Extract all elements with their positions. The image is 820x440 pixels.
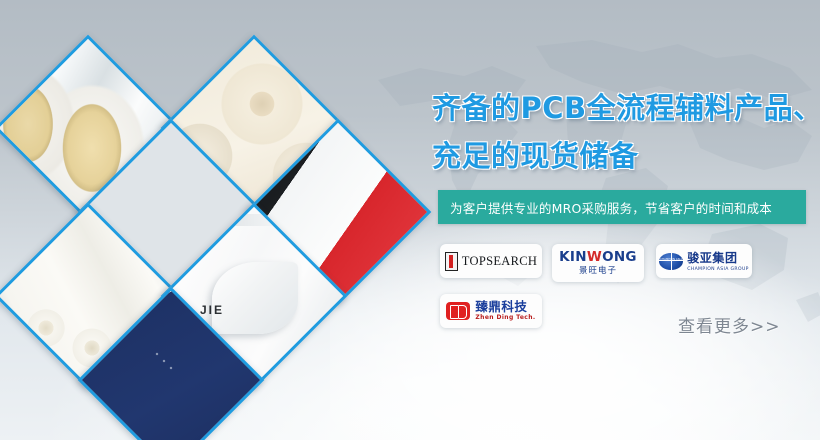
globe-icon <box>659 253 683 270</box>
headline-line-2: 充足的现货储备 <box>432 142 639 171</box>
topsearch-label: TOPSEARCH <box>462 254 537 269</box>
zhending-label-cn: 臻鼎科技 <box>475 301 535 314</box>
logo-kinwong[interactable]: KINWONG 景旺电子 <box>552 244 644 282</box>
topsearch-mark-icon <box>445 252 458 271</box>
zhending-label-en: Zhen Ding Tech. <box>475 315 535 321</box>
view-more-link[interactable]: 查看更多>> <box>678 312 781 337</box>
film-sheet-text: JIE <box>200 304 224 316</box>
film-curl <box>212 262 298 334</box>
logo-zhending[interactable]: 臻鼎科技 Zhen Ding Tech. <box>440 294 542 328</box>
kinwong-label-en: KINWONG <box>559 251 637 265</box>
logo-topsearch[interactable]: TOPSEARCH <box>440 244 542 278</box>
headline-line-1: 齐备的PCB全流程辅料产品、 <box>432 94 820 123</box>
zhending-mark-icon <box>446 302 470 320</box>
banner-content: 齐备的PCB全流程辅料产品、 充足的现货储备 为客户提供专业的MRO采购服务，节… <box>424 0 820 440</box>
champion-label-cn: 骏亚集团 <box>687 251 737 265</box>
promo-banner: JIE 齐备的PCB全流程辅料产品、 充足的现货储备 为客户提供专业的MRO采购… <box>0 0 820 440</box>
subtitle-bar: 为客户提供专业的MRO采购服务，节省客户的时间和成本 <box>438 190 806 224</box>
subtitle-text: 为客户提供专业的MRO采购服务，节省客户的时间和成本 <box>450 198 772 217</box>
kinwong-label-cn: 景旺电子 <box>559 267 637 276</box>
product-diamond-collage: JIE <box>0 0 430 440</box>
logo-champion-asia[interactable]: 骏亚集团 CHAMPION ASIA GROUP <box>656 244 752 278</box>
champion-label-en: CHAMPION ASIA GROUP <box>687 268 749 273</box>
